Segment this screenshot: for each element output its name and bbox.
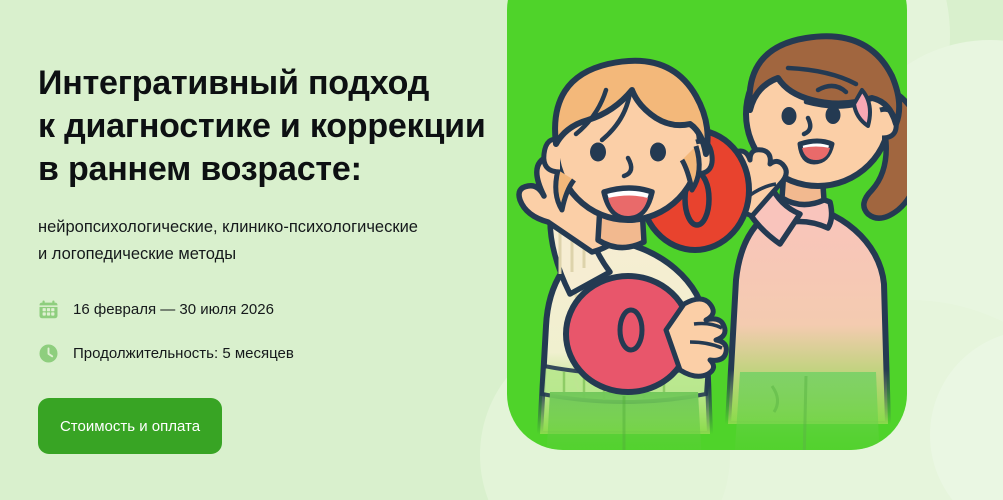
subtitle-line-1: нейропсихологические, клинико-психологич… — [38, 218, 418, 236]
child-right-eye-left — [782, 107, 797, 125]
meta-row-dates: 16 февраля — 30 июля 2026 — [38, 296, 508, 322]
child-left-eye-right — [650, 143, 666, 162]
child-left-eye-left — [590, 143, 606, 162]
meta-duration-text: Продолжительность: 5 месяцев — [73, 343, 294, 364]
child-right-eye-right — [826, 106, 841, 124]
meta-dates-text: 16 февраля — 30 июля 2026 — [73, 299, 274, 320]
hero-content: Интегративный подход к диагностике и кор… — [38, 0, 508, 500]
calendar-icon — [38, 299, 59, 320]
course-meta-list: 16 февраля — 30 июля 2026 Продолжительно… — [38, 296, 508, 366]
hero-illustration — [488, 0, 1003, 464]
pricing-and-payment-button[interactable]: Стоимость и оплата — [38, 398, 222, 454]
meta-row-duration: Продолжительность: 5 месяцев — [38, 340, 508, 366]
clock-icon — [38, 343, 59, 364]
course-hero-banner: Интегративный подход к диагностике и кор… — [0, 0, 1003, 500]
subtitle-line-2: и логопедические методы — [38, 245, 236, 263]
page-subtitle: нейропсихологические, клинико-психологич… — [38, 191, 508, 268]
title-line-2: к диагностике и коррекции — [38, 107, 486, 145]
title-line-1: Интегративный подход — [38, 64, 429, 102]
page-title: Интегративный подход к диагностике и кор… — [38, 0, 508, 191]
title-line-3: в раннем возрасте: — [38, 150, 362, 188]
